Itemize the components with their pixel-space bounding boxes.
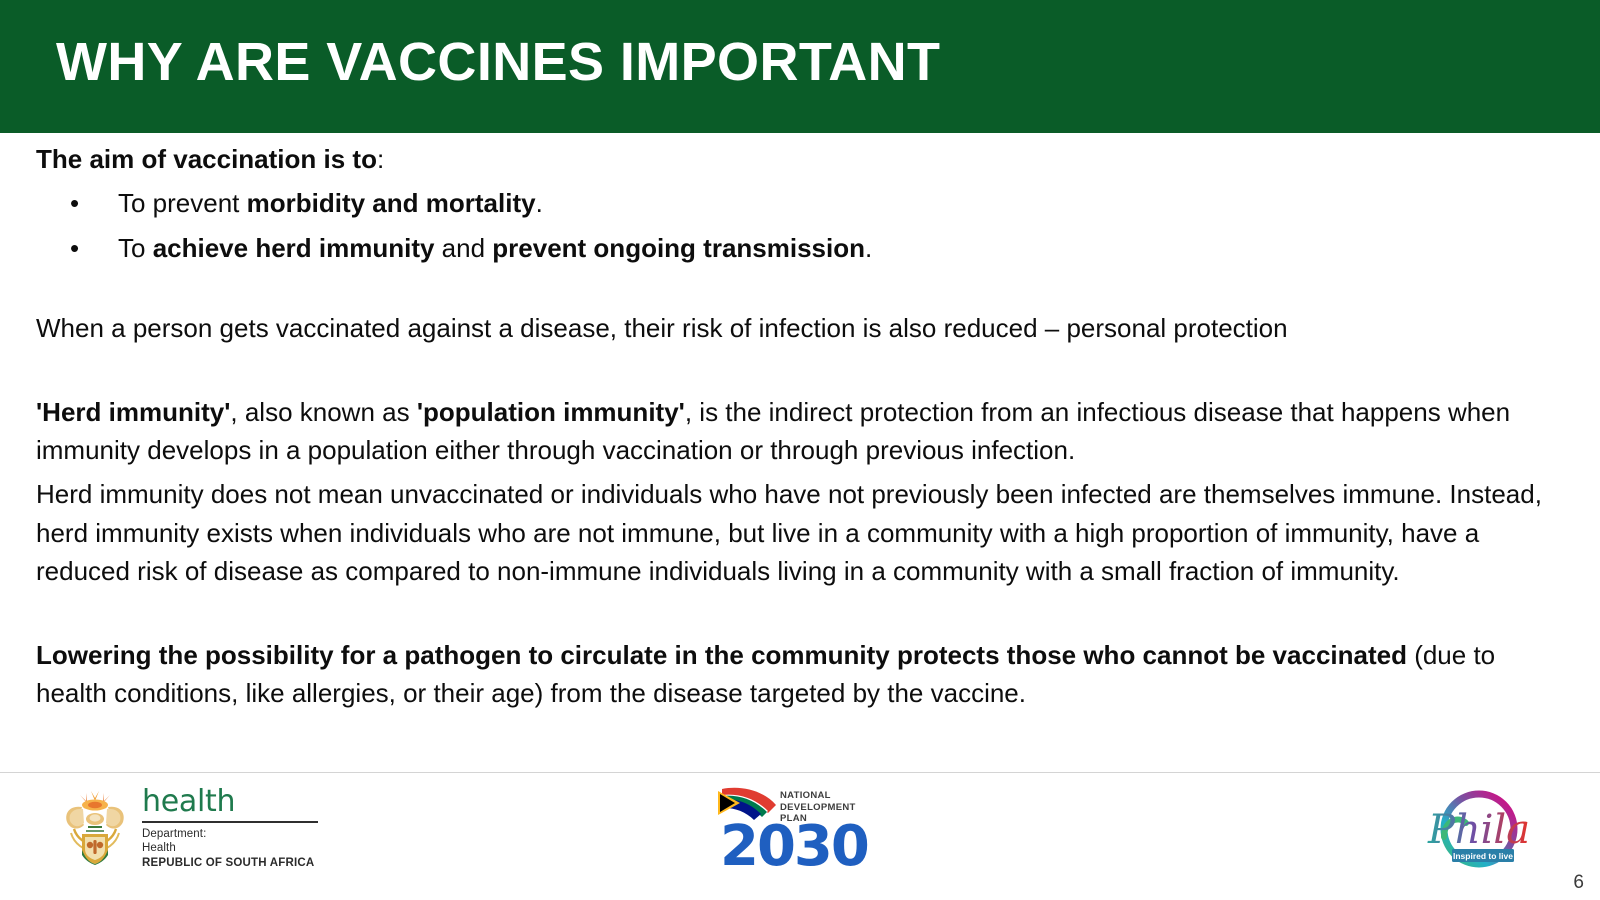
- ndp-year-2030: 2030: [720, 819, 868, 875]
- aim-lead-line: The aim of vaccination is to:: [36, 142, 1564, 176]
- bullet-text-bold-2: prevent ongoing transmission: [492, 233, 865, 263]
- spacer: [36, 271, 1564, 309]
- herd-immunity-term: 'Herd immunity': [36, 397, 230, 427]
- page-title: WHY ARE VACCINES IMPORTANT: [56, 34, 940, 91]
- slide-body: The aim of vaccination is to: • To preve…: [0, 133, 1600, 772]
- national-development-plan-logo: NATIONAL DEVELOPMENT PLAN 2030: [718, 783, 878, 883]
- health-department-logo: health Department: Health REPUBLIC OF SO…: [58, 785, 318, 870]
- phila-logo: Phila Inspired to live: [1404, 781, 1554, 885]
- bullet-text-middle: and: [434, 233, 492, 263]
- health-subtitle-line2: Health: [142, 841, 318, 855]
- health-subtitle-line3: REPUBLIC OF SOUTH AFRICA: [142, 856, 318, 870]
- bullet-text-prefix: To: [118, 233, 153, 263]
- health-subtitle: Department: Health REPUBLIC OF SOUTH AFR…: [142, 827, 318, 870]
- lowering-possibility-paragraph: Lowering the possibility for a pathogen …: [36, 636, 1564, 712]
- herd-immunity-definition-paragraph: 'Herd immunity', also known as 'populati…: [36, 393, 1564, 469]
- phila-tagline: Inspired to live: [1453, 851, 1513, 861]
- health-wordmark: health: [142, 787, 318, 817]
- bullet-text-bold: morbidity and mortality: [247, 188, 536, 218]
- spacer: [36, 347, 1564, 393]
- aim-lead-bold: The aim of vaccination is to: [36, 144, 377, 174]
- bullet-dot-icon: •: [70, 181, 79, 226]
- list-item: • To prevent morbidity and mortality.: [36, 181, 1564, 226]
- herd-immunity-mid: , also known as: [230, 397, 416, 427]
- ndp-line-development: DEVELOPMENT: [780, 802, 856, 814]
- slide-footer: health Department: Health REPUBLIC OF SO…: [0, 772, 1600, 900]
- bullet-text-suffix: .: [536, 188, 543, 218]
- page-number: 6: [1573, 872, 1584, 894]
- spacer: [36, 590, 1564, 636]
- herd-immunity-explanation-paragraph: Herd immunity does not mean unvaccinated…: [36, 475, 1564, 590]
- lowering-possibility-bold: Lowering the possibility for a pathogen …: [36, 640, 1407, 670]
- slide-header-band: WHY ARE VACCINES IMPORTANT: [0, 0, 1600, 133]
- health-divider: [142, 821, 318, 823]
- health-logo-text: health Department: Health REPUBLIC OF SO…: [142, 785, 318, 870]
- health-subtitle-line1: Department:: [142, 827, 318, 841]
- bullet-text-suffix: .: [865, 233, 872, 263]
- personal-protection-paragraph: When a person gets vaccinated against a …: [36, 309, 1564, 347]
- aim-bullet-list: • To prevent morbidity and mortality. • …: [36, 181, 1564, 270]
- population-immunity-term: 'population immunity': [417, 397, 685, 427]
- aim-lead-colon: :: [377, 144, 384, 174]
- ndp-line-national: NATIONAL: [780, 790, 856, 802]
- phila-wordmark: Phila: [1427, 807, 1530, 853]
- south-africa-coat-of-arms-icon: [58, 789, 132, 865]
- bullet-text-bold: achieve herd immunity: [153, 233, 435, 263]
- list-item: • To achieve herd immunity and prevent o…: [36, 226, 1564, 271]
- bullet-text-prefix: To prevent: [118, 188, 247, 218]
- bullet-dot-icon: •: [70, 226, 79, 271]
